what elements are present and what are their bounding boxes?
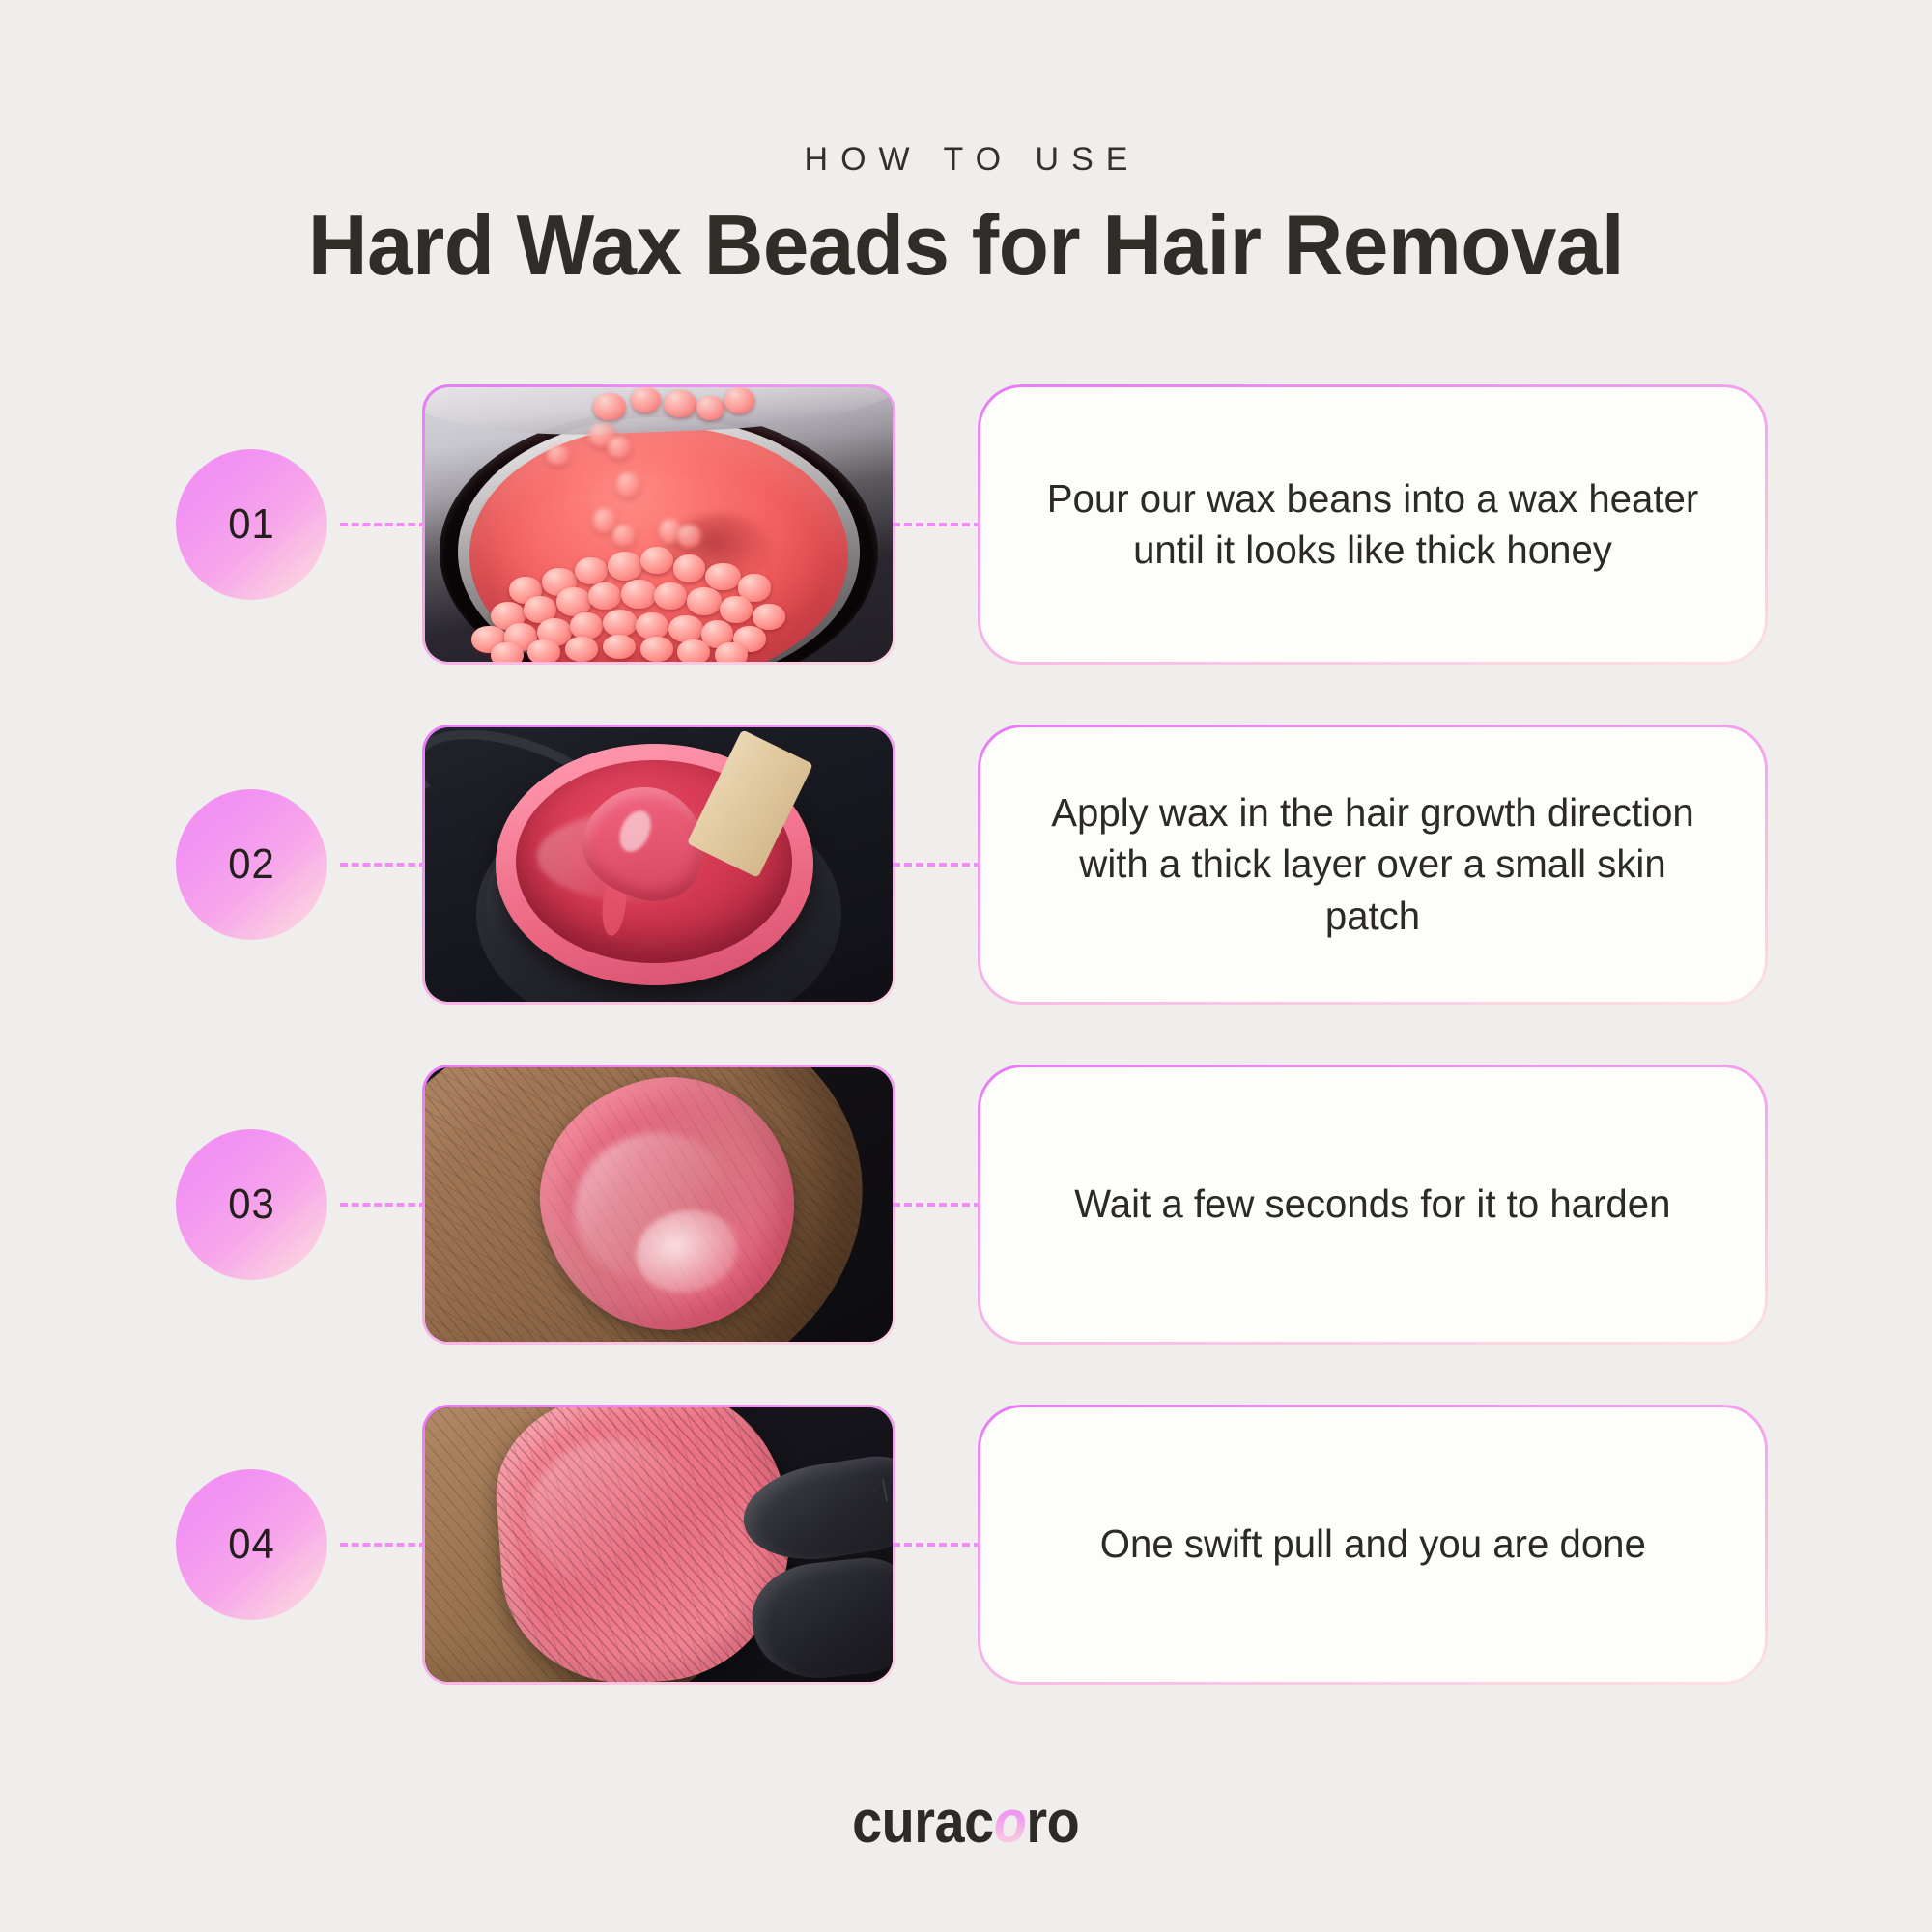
step-description-4: One swift pull and you are done [1099,1519,1645,1570]
connector-dash-left-4 [340,1543,427,1547]
step-description-2: Apply wax in the hair growth direction w… [1034,787,1712,942]
connector-dash-left-2 [340,863,427,867]
step-description-3: Wait a few seconds for it to harden [1074,1179,1670,1230]
step-number-badge-2: 02 [176,789,327,940]
step-card-2: Apply wax in the hair growth direction w… [978,724,1768,1005]
eyebrow-text: HOW TO USE [0,143,1932,176]
step-image-frame-1 [422,384,895,665]
step-image-1 [425,387,893,662]
step-row-4: 04 [0,1405,1932,1685]
step-row-1: 01 [0,384,1932,665]
step-image-4 [425,1407,893,1682]
brand-logo: curacoro [0,1788,1932,1857]
step-number-badge-4: 04 [176,1469,327,1620]
step-image-frame-2 [422,724,895,1005]
step-image-frame-4 [422,1405,895,1685]
connector-dash-right-1 [893,523,981,526]
step-number-badge-1: 01 [176,449,327,600]
steps-list: 01 [0,384,1932,1745]
step-image-frame-3 [422,1065,895,1345]
step-number-label-4: 04 [228,1520,274,1569]
step-row-2: 02 [0,724,1932,1005]
connector-dash-right-3 [893,1203,981,1207]
connector-dash-left-3 [340,1203,427,1207]
step-number-label-1: 01 [228,500,274,549]
step-number-badge-3: 03 [176,1129,327,1280]
page-header: HOW TO USE Hard Wax Beads for Hair Remov… [0,0,1932,290]
step-number-label-3: 03 [228,1180,274,1229]
logo-accent-letter: o [994,1789,1027,1856]
infographic-page: HOW TO USE Hard Wax Beads for Hair Remov… [0,0,1932,1932]
step-row-3: 03 Wait a few seco [0,1065,1932,1345]
connector-dash-right-2 [893,863,981,867]
step-image-3 [425,1067,893,1342]
logo-part-2: ro [1027,1789,1080,1856]
page-title: Hard Wax Beads for Hair Removal [29,201,1903,290]
step-image-2 [425,727,893,1002]
connector-dash-left-1 [340,523,427,526]
step-card-4: One swift pull and you are done [978,1405,1768,1685]
step-number-label-2: 02 [228,840,274,889]
step-card-1: Pour our wax beans into a wax heater unt… [978,384,1768,665]
step-card-3: Wait a few seconds for it to harden [978,1065,1768,1345]
connector-dash-right-4 [893,1543,981,1547]
logo-part-1: curac [852,1789,994,1856]
step-description-1: Pour our wax beans into a wax heater unt… [1034,473,1712,577]
